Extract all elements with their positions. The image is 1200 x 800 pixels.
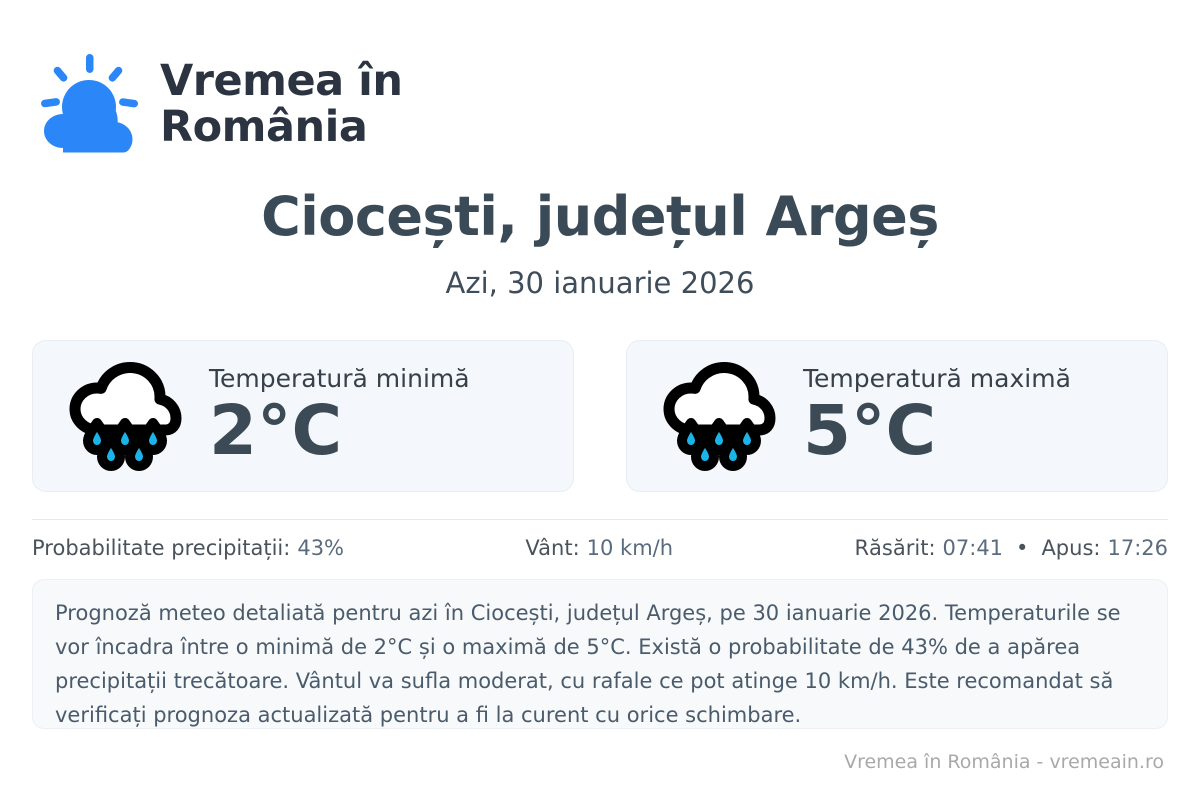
max-temperature-card: Temperatură maximă 5°C [626, 340, 1168, 492]
page-title: Ciocești, județul Argeș [0, 185, 1200, 248]
temperature-cards: Temperatură minimă 2°C Temperatură maxim… [32, 340, 1168, 492]
precipitation-label: Probabilitate precipitații: [32, 536, 290, 560]
precipitation-stat: Probabilitate precipitații: 43% [32, 536, 344, 560]
wind-label: Vânt: [525, 536, 579, 560]
min-temperature-card: Temperatură minimă 2°C [32, 340, 574, 492]
wind-stat: Vânt: 10 km/h [344, 536, 854, 560]
stats-divider [32, 519, 1168, 520]
sunrise-value: 07:41 [943, 536, 1004, 560]
brand-logo[interactable]: Vremea în România [36, 52, 402, 156]
rain-cloud-icon [67, 360, 183, 472]
sunrise-label: Răsărit: [854, 536, 935, 560]
weather-stats-row: Probabilitate precipitații: 43% Vânt: 10… [32, 536, 1168, 560]
min-temperature-label: Temperatură minimă [209, 365, 470, 393]
page-subtitle: Azi, 30 ianuarie 2026 [0, 266, 1200, 300]
precipitation-value: 43% [297, 536, 344, 560]
brand-name: Vremea în România [160, 58, 402, 150]
max-temperature-value: 5°C [803, 395, 1071, 467]
sun-behind-cloud-icon [36, 52, 142, 156]
min-temperature-body: Temperatură minimă 2°C [209, 365, 470, 467]
sun-times-stat: Răsărit: 07:41 • Apus: 17:26 [854, 536, 1168, 560]
min-temperature-value: 2°C [209, 395, 470, 467]
forecast-description: Prognoză meteo detaliată pentru azi în C… [32, 579, 1168, 729]
sunset-value: 17:26 [1107, 536, 1168, 560]
max-temperature-label: Temperatură maximă [803, 365, 1071, 393]
weather-page: Vremea în România Ciocești, județul Arge… [0, 0, 1200, 800]
footer-credit: Vremea în România - vremeain.ro [844, 751, 1164, 773]
sunset-label: Apus: [1041, 536, 1100, 560]
rain-cloud-icon [661, 360, 777, 472]
max-temperature-body: Temperatură maximă 5°C [803, 365, 1071, 467]
wind-value: 10 km/h [587, 536, 673, 560]
sun-times-separator: • [1010, 536, 1034, 560]
